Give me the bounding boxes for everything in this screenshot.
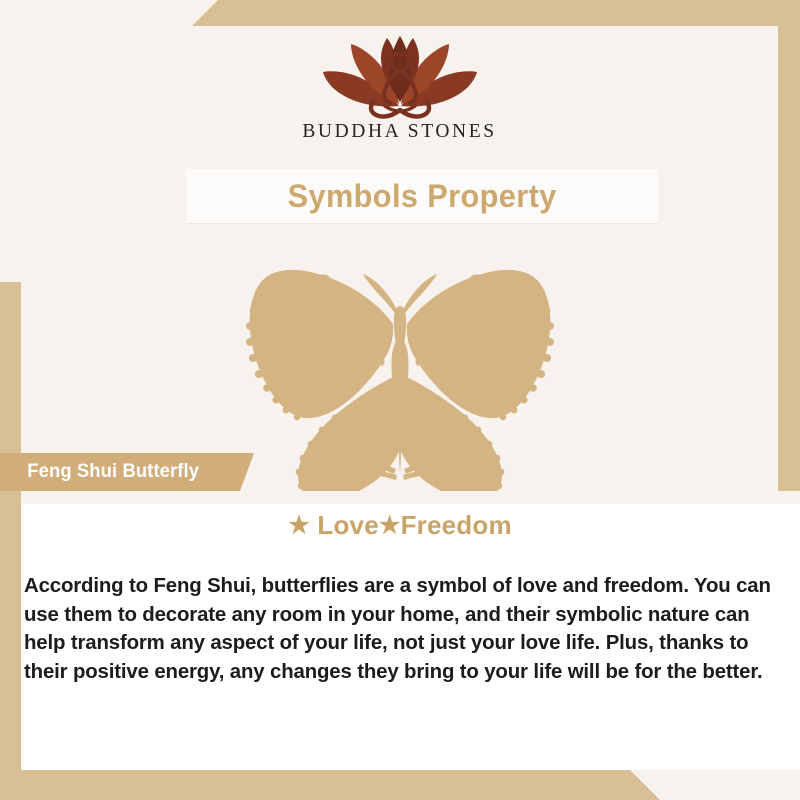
frame-top-band	[0, 0, 800, 26]
lotus-meditation-icon	[307, 32, 493, 120]
body-paragraph: According to Feng Shui, butterflies are …	[24, 572, 786, 686]
panel-divider	[21, 491, 800, 504]
feng-shui-label-ribbon: Feng Shui Butterfly	[0, 453, 254, 491]
subheading: ★ Love★Freedom	[0, 510, 800, 541]
subheading-word-freedom: Freedom	[401, 510, 512, 540]
star-icon-middle: ★	[379, 512, 401, 539]
feng-shui-label-text: Feng Shui Butterfly	[3, 461, 199, 483]
upper-panel: BUDDHA STONES Symbols Property	[21, 26, 778, 504]
brand-name: BUDDHA STONES	[21, 121, 778, 143]
page-title: Symbols Property	[287, 178, 556, 215]
title-banner: Symbols Property	[186, 169, 658, 223]
subheading-word-love: Love	[317, 510, 378, 540]
frame-left-band	[0, 282, 21, 800]
star-icon-left: ★	[288, 512, 310, 539]
promo-card: BUDDHA STONES Symbols Property	[0, 0, 800, 800]
butterfly-icon	[217, 248, 583, 500]
frame-bottom-band	[0, 770, 660, 800]
brand-block: BUDDHA STONES	[21, 32, 778, 143]
